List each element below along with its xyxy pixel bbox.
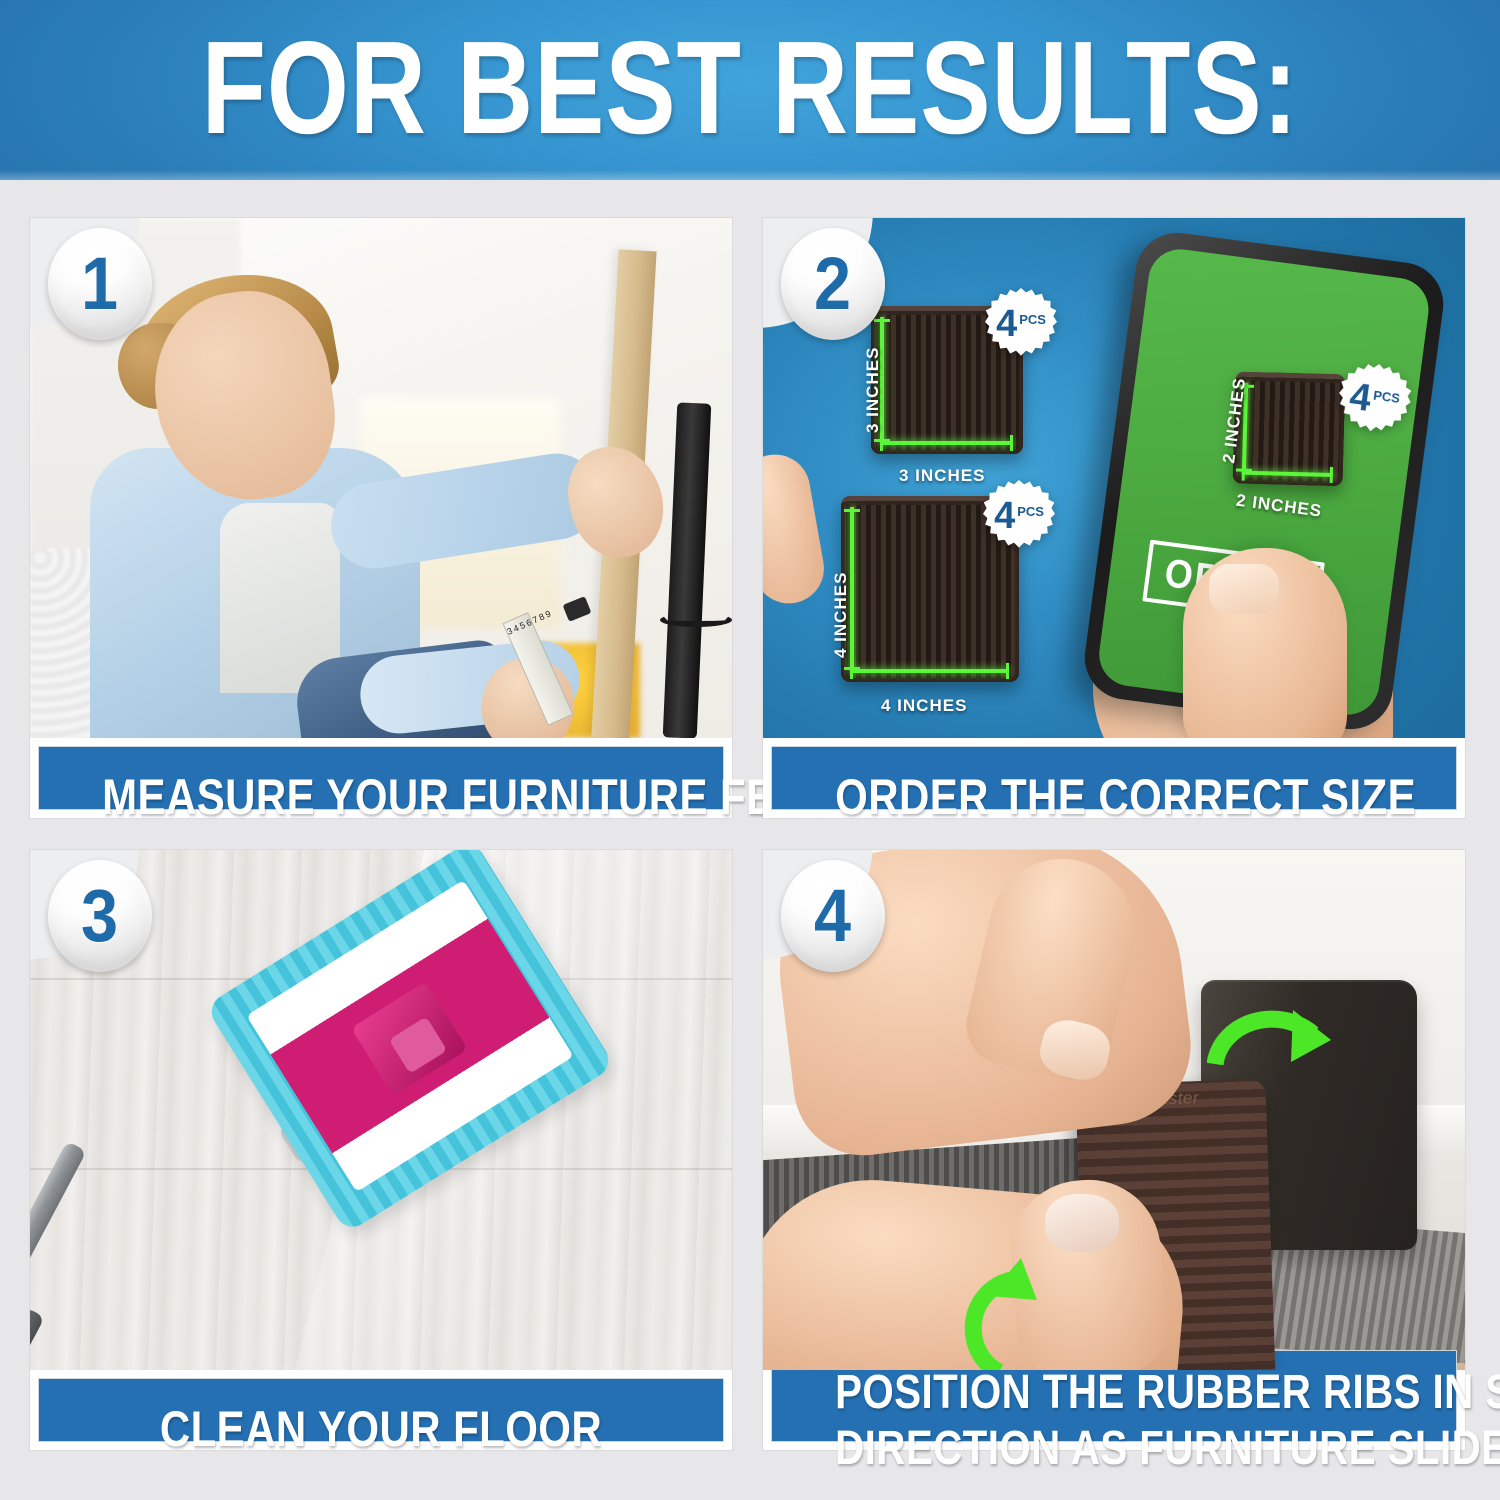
rotation-arrow-bottom-icon	[959, 1248, 1089, 1370]
step-1-caption-bar: MEASURE YOUR FURNITURE FEET	[38, 746, 724, 810]
furniture-leg	[663, 402, 712, 738]
step-3-caption-line-1: CLEAN YOUR FLOOR	[102, 1393, 660, 1459]
pcs-count-2in: 4	[1348, 380, 1373, 416]
step-number-2: 2	[814, 247, 851, 321]
step-4-caption-line-1: POSITION THE RUBBER RIBS IN SAME	[835, 1365, 1393, 1421]
pcs-count-3in: 4	[996, 307, 1017, 341]
mop-handle	[30, 1141, 87, 1370]
header-banner: FOR BEST RESULTS:	[0, 0, 1500, 180]
woman-hand-on-board	[558, 437, 674, 568]
fingernail-lower	[1045, 1194, 1119, 1252]
step-number-3: 3	[81, 879, 118, 953]
step-number-badge-3: 3	[48, 860, 152, 972]
green-tick-left	[850, 663, 853, 679]
page-title: FOR BEST RESULTS:	[150, 18, 1350, 158]
green-dimension-line-horizontal	[880, 441, 1013, 445]
step-2-caption-line-1: ORDER THE CORRECT SIZE	[835, 761, 1393, 827]
step-4-caption-line-2: DIRECTION AS FURNITURE SLIDES	[835, 1421, 1393, 1477]
infographic-page: FOR BEST RESULTS:	[0, 0, 1500, 1500]
green-tick-left	[880, 435, 883, 451]
steps-grid: 3456789 1 MEASURE YOUR FURNITURE FEET	[30, 218, 1470, 1458]
green-tick-right	[1010, 435, 1013, 451]
pcs-count-4in: 4	[994, 499, 1015, 533]
thumb-pressing-order	[1183, 548, 1347, 738]
header-sheen	[0, 170, 1500, 180]
product-3in-label-vertical: 3 INCHES	[863, 347, 883, 433]
pcs-badge-2in: 4 PCS	[1334, 359, 1415, 440]
mop-handle-grip	[30, 1307, 45, 1370]
step-3-caption-bar: CLEAN YOUR FLOOR	[38, 1378, 724, 1442]
pcs-badge-label-2in: 4 PCS	[1348, 380, 1402, 420]
step-card-4: CasterMaster 4 POSITI	[763, 850, 1465, 1450]
green-tick-left	[1242, 465, 1245, 481]
step-card-1: 3456789 1 MEASURE YOUR FURNITURE FEET	[30, 218, 732, 818]
pcs-badge-label-3in: 4 PCS	[996, 307, 1046, 341]
step-1-caption-line-1: MEASURE YOUR FURNITURE FEET	[102, 761, 660, 827]
step-card-3: 3 CLEAN YOUR FLOOR	[30, 850, 732, 1450]
pcs-unit-4in: PCS	[1017, 504, 1044, 519]
step-number-4: 4	[814, 879, 851, 953]
step-number-1: 1	[81, 247, 118, 321]
pcs-badge-3in: 4 PCS	[985, 288, 1057, 360]
pcs-unit-3in: PCS	[1019, 312, 1046, 327]
pcs-badge-label-4in: 4 PCS	[994, 499, 1044, 533]
green-tick-right	[1006, 663, 1009, 679]
furniture-leg-curve	[660, 613, 732, 627]
product-2in-label-horizontal: 2 INCHES	[1235, 491, 1323, 522]
product-pad-2in	[1233, 371, 1346, 486]
rotation-arrow-top-icon	[1207, 1000, 1347, 1130]
green-tick-right	[1330, 467, 1333, 483]
product-4in-label-vertical: 4 INCHES	[831, 572, 851, 658]
step-card-2: 3 INCHES 3 INCHES 4 PCS	[763, 218, 1465, 818]
step-number-badge-2: 2	[781, 228, 885, 340]
step-number-badge-1: 1	[48, 228, 152, 340]
green-tick-top	[874, 319, 890, 322]
tape-measure-hook	[563, 596, 592, 622]
green-dimension-line-horizontal	[850, 669, 1009, 673]
product-4in-label-horizontal: 4 INCHES	[881, 696, 967, 716]
pcs-unit-2in: PCS	[1372, 388, 1400, 406]
thumbnail	[1209, 564, 1279, 614]
green-dimension-line-horizontal	[1242, 471, 1333, 477]
product-3in-label-horizontal: 3 INCHES	[899, 466, 985, 486]
step-2-caption-bar: ORDER THE CORRECT SIZE	[771, 746, 1457, 810]
green-tick-top	[844, 509, 860, 512]
hand-finger-holding-phone	[763, 449, 829, 609]
pcs-badge-4in: 4 PCS	[983, 480, 1055, 552]
step-number-badge-4: 4	[781, 860, 885, 972]
